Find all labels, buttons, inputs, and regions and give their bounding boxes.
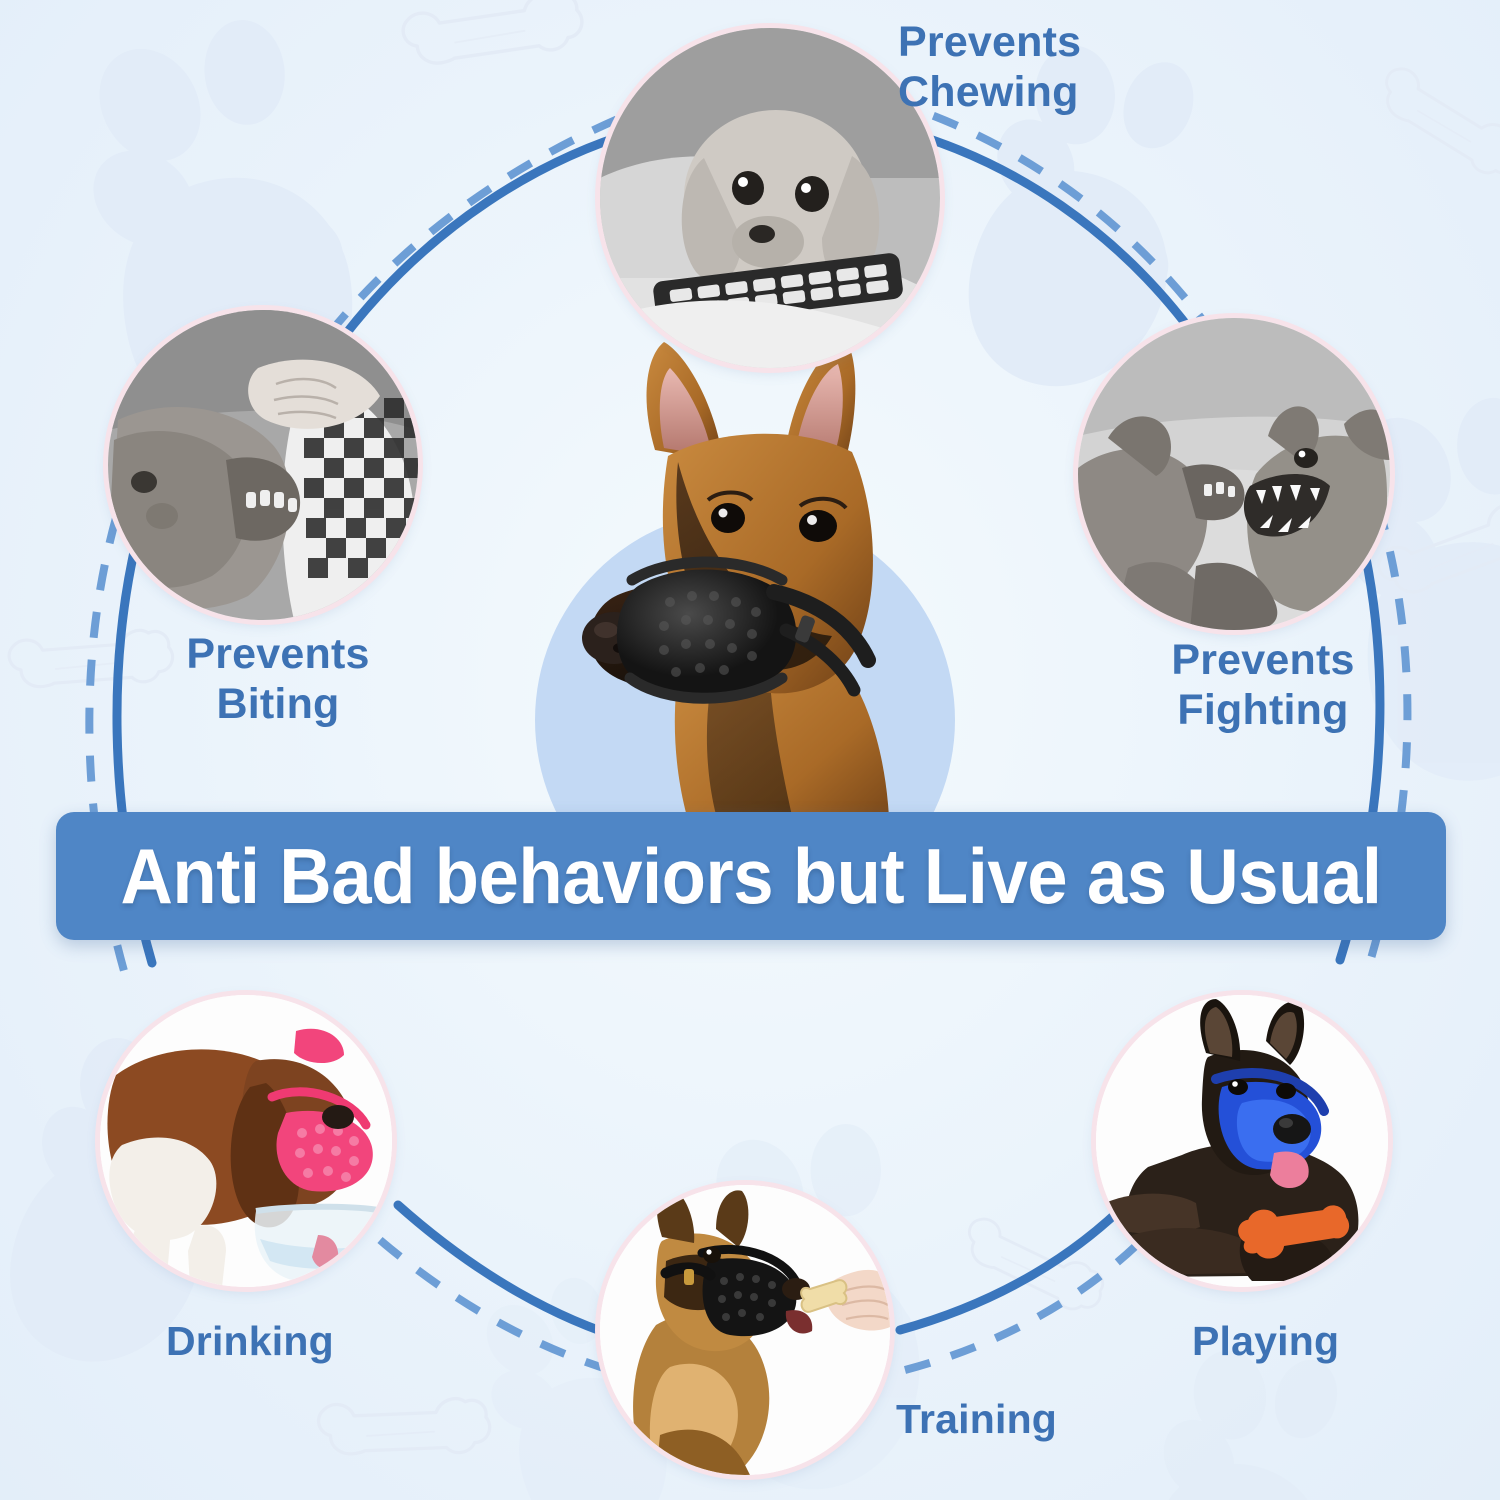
- feature-label-playing: Playing: [1192, 1318, 1339, 1366]
- feature-label-drinking: Drinking: [166, 1318, 334, 1366]
- infographic-canvas: Prevents Chewing: [0, 0, 1500, 1500]
- feature-photo-chewing[interactable]: [600, 28, 940, 368]
- hero-dog-with-muzzle: [560, 330, 950, 850]
- feature-photo-fighting[interactable]: [1078, 318, 1390, 630]
- dog-drinking-photo: [100, 995, 392, 1287]
- feature-photo-biting[interactable]: [108, 310, 418, 620]
- feature-photo-playing[interactable]: [1096, 995, 1388, 1287]
- headline-banner: Anti Bad behaviors but Live as Usual: [56, 812, 1446, 940]
- feature-photo-drinking[interactable]: [100, 995, 392, 1287]
- dog-training-treat-photo: [600, 1185, 890, 1475]
- feature-label-fighting: Prevents Fighting: [1158, 636, 1368, 736]
- puppy-chewing-remote-photo: [600, 28, 940, 368]
- feature-photo-training[interactable]: [600, 1185, 890, 1475]
- dog-playing-photo: [1096, 995, 1388, 1287]
- feature-label-chewing: Prevents Chewing: [898, 18, 1081, 118]
- feature-label-biting: Prevents Biting: [178, 630, 378, 730]
- two-dogs-fighting-photo: [1078, 318, 1390, 630]
- headline-text: Anti Bad behaviors but Live as Usual: [120, 831, 1381, 922]
- dog-biting-arm-photo: [108, 310, 418, 620]
- feature-label-training: Training: [896, 1396, 1057, 1444]
